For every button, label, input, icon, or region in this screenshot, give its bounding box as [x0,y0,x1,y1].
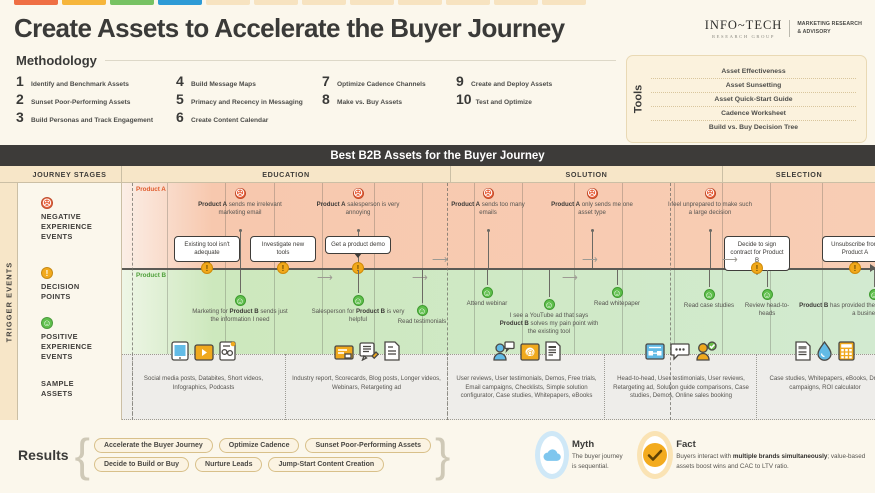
methodology-text: Test and Optimize [476,99,532,106]
result-pill[interactable]: Accelerate the Buyer Journey [94,438,213,453]
result-pill[interactable]: Sunset Poor-Performing Assets [305,438,431,453]
infographic-icon [219,341,236,366]
asset-icon-row: @ [448,340,605,366]
methodology-number: 8 [322,91,333,107]
event-stem-dot [709,229,712,232]
event-stem [422,270,423,303]
smile-icon: ☺ [482,287,493,298]
methodology-list: 1Identify and Benchmark Assets4Build Mes… [16,73,616,125]
negative-event: ☹Product A sends too many emails [444,188,532,217]
journey-matrix: TRIGGER EVENTS ☹NEGATIVEEXPERIENCEEVENTS… [0,183,875,420]
decision-callout[interactable]: Unsubscribe from Product A [822,236,875,262]
methodology-text: Make vs. Buy Assets [337,99,402,106]
row-label-text: NEGATIVEEXPERIENCEEVENTS [41,212,92,242]
positive-event: ☺Read testimonials [386,305,458,326]
methodology-text: Create and Deploy Assets [471,81,552,88]
grid-line [822,183,823,354]
logo-subtitle: RESEARCH GROUP [705,34,783,39]
methodology-text: Identify and Benchmark Assets [31,81,129,88]
negative-event-text: Product A sends too many emails [444,201,532,217]
myth-body: The buyer journey is sequential. [572,452,628,470]
logo-divider [789,20,790,37]
asset-icon-row [285,340,448,366]
methodology-text: Build Personas and Track Engagement [31,117,153,124]
event-stem [767,270,768,287]
methodology-text: Create Content Calendar [191,117,268,124]
tool-item[interactable]: Asset Quick-Start Guide [651,93,856,107]
frown-icon: ☹ [587,188,598,199]
positive-event-text: Product B has provided the information I… [799,302,875,318]
section-banner-text: Best B2B Assets for the Buyer Journey [330,150,544,162]
stage-header-rail-spacer [0,166,18,182]
tool-item[interactable]: Build vs. Buy Decision Tree [651,121,856,134]
negative-event: ☹Product A sends me irrelevant marketing… [196,188,284,217]
color-strip-segment [110,0,154,5]
checklist-icon [545,341,561,366]
methodology-item-4: 4Build Message Maps [176,73,322,89]
decision-point-marker[interactable]: ! [751,262,763,274]
decision-callout[interactable]: Get a product demo [325,236,391,254]
row-label-text: DECISIONPOINTS [41,282,80,302]
methodology-number: 2 [16,91,27,107]
negative-event-text: Product A sends me irrelevant marketing … [196,201,284,217]
positive-event: ☺Read case studies [683,289,735,310]
negative-event-text: Product A salesperson is very annoying [314,201,402,217]
journey-stages-label: JOURNEY STAGES [18,166,122,182]
flow-arrow: ⟶ [412,271,428,284]
fact-text: Fact Buyers interact with multiple brand… [676,439,870,470]
exclamation-icon: ! [41,267,53,279]
color-strip-segment [350,0,394,5]
smile-icon: ☺ [235,295,246,306]
stage-education: EDUCATION [122,166,451,182]
info-tech-logo: INFO~TECH RESEARCH GROUP MARKETING RESEA… [705,18,862,39]
row-label-text: POSITIVEEXPERIENCEEVENTS [41,332,92,362]
myth-heading: Myth [572,439,628,450]
positive-event-text: Read case studies [683,302,735,310]
tools-tab: Tools [627,56,649,142]
section-banner: Best B2B Assets for the Buyer Journey [0,145,875,166]
row-label-sample-assets: SAMPLEASSETS [41,379,74,399]
sample-asset-group: Social media posts, Databites, Short vid… [122,354,285,420]
user-check-icon [695,341,717,366]
asset-icon-row [122,340,285,366]
sample-asset-text: Social media posts, Databites, Short vid… [122,375,285,392]
trigger-events-label: TRIGGER EVENTS [4,261,13,342]
tool-item[interactable]: Cadence Worksheet [651,107,856,121]
decision-point-marker[interactable]: ! [201,262,213,274]
page-title: Create Assets to Accelerate the Buyer Jo… [14,13,565,44]
negative-event: ☹Product A salesperson is very annoying [314,188,402,217]
positive-event-text: Read whitepaper [582,300,652,308]
smile-icon: ☺ [704,289,715,300]
calculator-icon [838,341,855,366]
report-icon [334,344,354,366]
smile-icon: ☺ [869,289,875,300]
positive-event: ☺Marketing for Product B sends just the … [190,295,290,324]
drip-campaign-icon [816,341,833,366]
color-strip-segment [254,0,298,5]
frown-icon: ☹ [235,188,246,199]
sample-asset-text: Case studies, Whitepapers, eBooks, Drip … [757,375,875,392]
sample-asset-group: Industry report, Scorecards, Blog posts,… [285,354,448,420]
event-stem [709,270,710,287]
event-stem [487,270,488,285]
decision-point-marker[interactable]: ! [849,262,861,274]
row-label-decision-points: !DECISIONPOINTS [41,267,80,302]
methodology-number: 10 [456,91,472,107]
myth-icon-circle [540,436,564,474]
color-strip-segment [446,0,490,5]
event-stem-dot [591,229,594,232]
blog-post-icon [359,342,379,366]
event-stem [549,270,550,297]
methodology-item-8: 8Make vs. Buy Assets [322,91,456,107]
results-pill-list: Accelerate the Buyer JourneyOptimize Cad… [94,438,431,472]
tools-panel: Tools Asset EffectivenessAsset Sunsettin… [626,55,867,143]
stage-header-row: JOURNEY STAGES EDUCATION SOLUTION SELECT… [0,166,875,183]
methodology-item-2: 2Sunset Poor-Performing Assets [16,91,176,107]
case-study-icon [795,341,811,366]
myth-fact-section: Myth The buyer journey is sequential. Fa… [540,424,870,486]
color-strip-segment [62,0,106,5]
top-color-strip [0,0,875,5]
logo-name: INFO~TECH [705,18,783,33]
video-play-icon [194,344,214,366]
page-header: Create Assets to Accelerate the Buyer Jo… [14,8,862,48]
result-pill[interactable]: Optimize Cadence [219,438,300,453]
sample-asset-text: Head-to-head, User testimonials, User re… [605,375,757,401]
methodology-item-6: 6Create Content Calendar [176,109,322,125]
event-stem [710,231,711,268]
sample-asset-group: @User reviews, User testimonials, Demos,… [448,354,605,420]
email-campaign-icon: @ [520,343,540,366]
methodology-item-1: 1Identify and Benchmark Assets [16,73,176,89]
fact-heading: Fact [676,439,870,450]
tool-item[interactable]: Asset Effectiveness [651,65,856,79]
stage-selection: SELECTION [723,166,875,182]
fact-body: Buyers interact with multiple brands sim… [676,452,870,470]
result-pill[interactable]: Nurture Leads [195,457,262,472]
asset-icon-row [605,340,757,366]
grid-line [422,183,423,354]
fact-icon-circle [642,436,668,474]
smile-icon: ☺ [612,287,623,298]
methodology-number: 9 [456,73,467,89]
svg-text:@: @ [525,348,533,357]
methodology-number: 4 [176,73,187,89]
methodology-text: Sunset Poor-Performing Assets [31,99,130,106]
frown-icon: ☹ [353,188,364,199]
methodology-item-3: 3Build Personas and Track Engagement [16,109,176,125]
methodology-title: Methodology [16,53,97,68]
positive-event: ☺Review head-to-heads [739,289,795,318]
trigger-events-rail: TRIGGER EVENTS [0,183,18,420]
color-strip-segment [398,0,442,5]
positive-event-text: Read testimonials [386,318,458,326]
cloud-icon [542,448,562,462]
document-icon [384,341,400,366]
fact-block: Fact Buyers interact with multiple brand… [642,424,870,486]
event-stem [240,231,241,268]
row-label-positive-experience-events: ☺POSITIVEEXPERIENCEEVENTS [41,317,92,362]
methodology-number: 3 [16,109,27,125]
row-label-text: SAMPLEASSETS [41,379,74,399]
methodology-item-empty [322,109,456,125]
chat-bubble-icon [670,343,690,366]
results-label: Results [18,447,69,463]
user-review-icon [493,341,515,366]
methodology-text: Optimize Cadence Channels [337,81,426,88]
event-stem [617,270,618,285]
stage-solution: SOLUTION [451,166,723,182]
methodology-item-5: 5Primacy and Recency in Messaging [176,91,322,107]
methodology-rule [105,60,616,61]
frown-icon: ☹ [41,197,53,209]
methodology-text: Primacy and Recency in Messaging [191,99,303,106]
methodology-item-7: 7Optimize Cadence Channels [322,73,456,89]
color-strip-segment [542,0,586,5]
comparison-icon [645,343,665,366]
decision-callout[interactable]: Investigate new tools [250,236,316,262]
positive-event: ☺Read whitepaper [582,287,652,308]
color-strip-segment [206,0,250,5]
myth-text: Myth The buyer journey is sequential. [572,439,628,470]
tools-list: Asset EffectivenessAsset SunsettingAsset… [649,56,866,142]
negative-event-text: Product A only sends me one asset type [548,201,636,217]
positive-event-text: I see a YouTube ad that says Product B s… [499,312,599,336]
logo-tagline-line1: MARKETING RESEARCH [797,20,862,28]
flow-arrow: ⟶ [317,271,333,284]
negative-event: ☹I feel unprepared to make such a large … [666,188,754,217]
event-stem [240,270,241,293]
results-section: Results { Accelerate the Buyer JourneyOp… [18,424,478,486]
event-stem-dot [357,229,360,232]
methodology-text: Build Message Maps [191,81,256,88]
sample-asset-text: User reviews, User testimonials, Demos, … [448,375,605,401]
flow-arrow: ⟶ [582,253,598,266]
product-b-label: Product B [136,272,166,279]
smile-icon: ☺ [353,295,364,306]
smile-icon: ☺ [762,289,773,300]
sample-asset-group: Case studies, Whitepapers, eBooks, Drip … [757,354,875,420]
result-pill[interactable]: Decide to Build or Buy [94,457,189,472]
methodology-section: Methodology 1Identify and Benchmark Asse… [16,53,616,125]
methodology-item-9: 9Create and Deploy Assets [456,73,606,89]
logo-wordmark: INFO~TECH RESEARCH GROUP [705,18,783,39]
event-stem [488,231,489,268]
positive-event-text: Review head-to-heads [739,302,795,318]
color-strip-segment [302,0,346,5]
tools-label: Tools [632,85,644,114]
positive-event-text: Marketing for Product B sends just the i… [190,308,290,324]
myth-block: Myth The buyer journey is sequential. [540,424,628,486]
results-row-1: Accelerate the Buyer JourneyOptimize Cad… [94,438,431,453]
methodology-item-empty [456,109,606,125]
event-stem [358,270,359,293]
positive-event: ☺Product B has provided the information … [799,289,875,318]
methodology-number: 1 [16,73,27,89]
tablet-icon [171,341,189,366]
smile-icon: ☺ [544,299,555,310]
methodology-number: 7 [322,73,333,89]
color-strip-segment [14,0,58,5]
negative-event: ☹Product A only sends me one asset type [548,188,636,217]
asset-icon-row [757,340,875,366]
flow-arrow: ⟶ [432,253,448,266]
decision-point-marker[interactable]: ! [277,262,289,274]
negative-event-text: I feel unprepared to make such a large d… [666,201,754,217]
smile-icon: ☺ [417,305,428,316]
row-labels-column: ☹NEGATIVEEXPERIENCEEVENTS!DECISIONPOINTS… [18,183,122,420]
color-strip-segment [158,0,202,5]
logo-tagline-line2: & ADVISORY [797,28,862,36]
methodology-number: 6 [176,109,187,125]
journey-plot: Product AProduct B☹Product A sends me ir… [122,183,875,420]
product-a-label: Product A [136,186,166,193]
color-strip-segment [494,0,538,5]
decision-callout[interactable]: Existing tool isn't adequate [174,236,240,262]
row-label-negative-experience-events: ☹NEGATIVEEXPERIENCEEVENTS [41,197,92,242]
methodology-item-10: 10Test and Optimize [456,91,606,107]
grid-line [167,183,168,354]
frown-icon: ☹ [483,188,494,199]
logo-tagline: MARKETING RESEARCH & ADVISORY [797,20,862,36]
smile-icon: ☺ [41,317,53,329]
methodology-header: Methodology [16,53,616,68]
result-pill[interactable]: Jump-Start Content Creation [268,457,384,472]
check-circle-icon [642,442,668,468]
sample-asset-text: Industry report, Scorecards, Blog posts,… [285,375,448,392]
event-stem-dot [487,229,490,232]
tool-item[interactable]: Asset Sunsetting [651,79,856,93]
flow-arrow: ⟶ [722,253,738,266]
frown-icon: ☹ [705,188,716,199]
results-row-2: Decide to Build or BuyNurture LeadsJump-… [94,457,431,472]
flow-arrow: ⟶ [562,271,578,284]
sample-asset-group: Head-to-head, User testimonials, User re… [605,354,757,420]
event-stem-dot [239,229,242,232]
methodology-number: 5 [176,91,187,107]
